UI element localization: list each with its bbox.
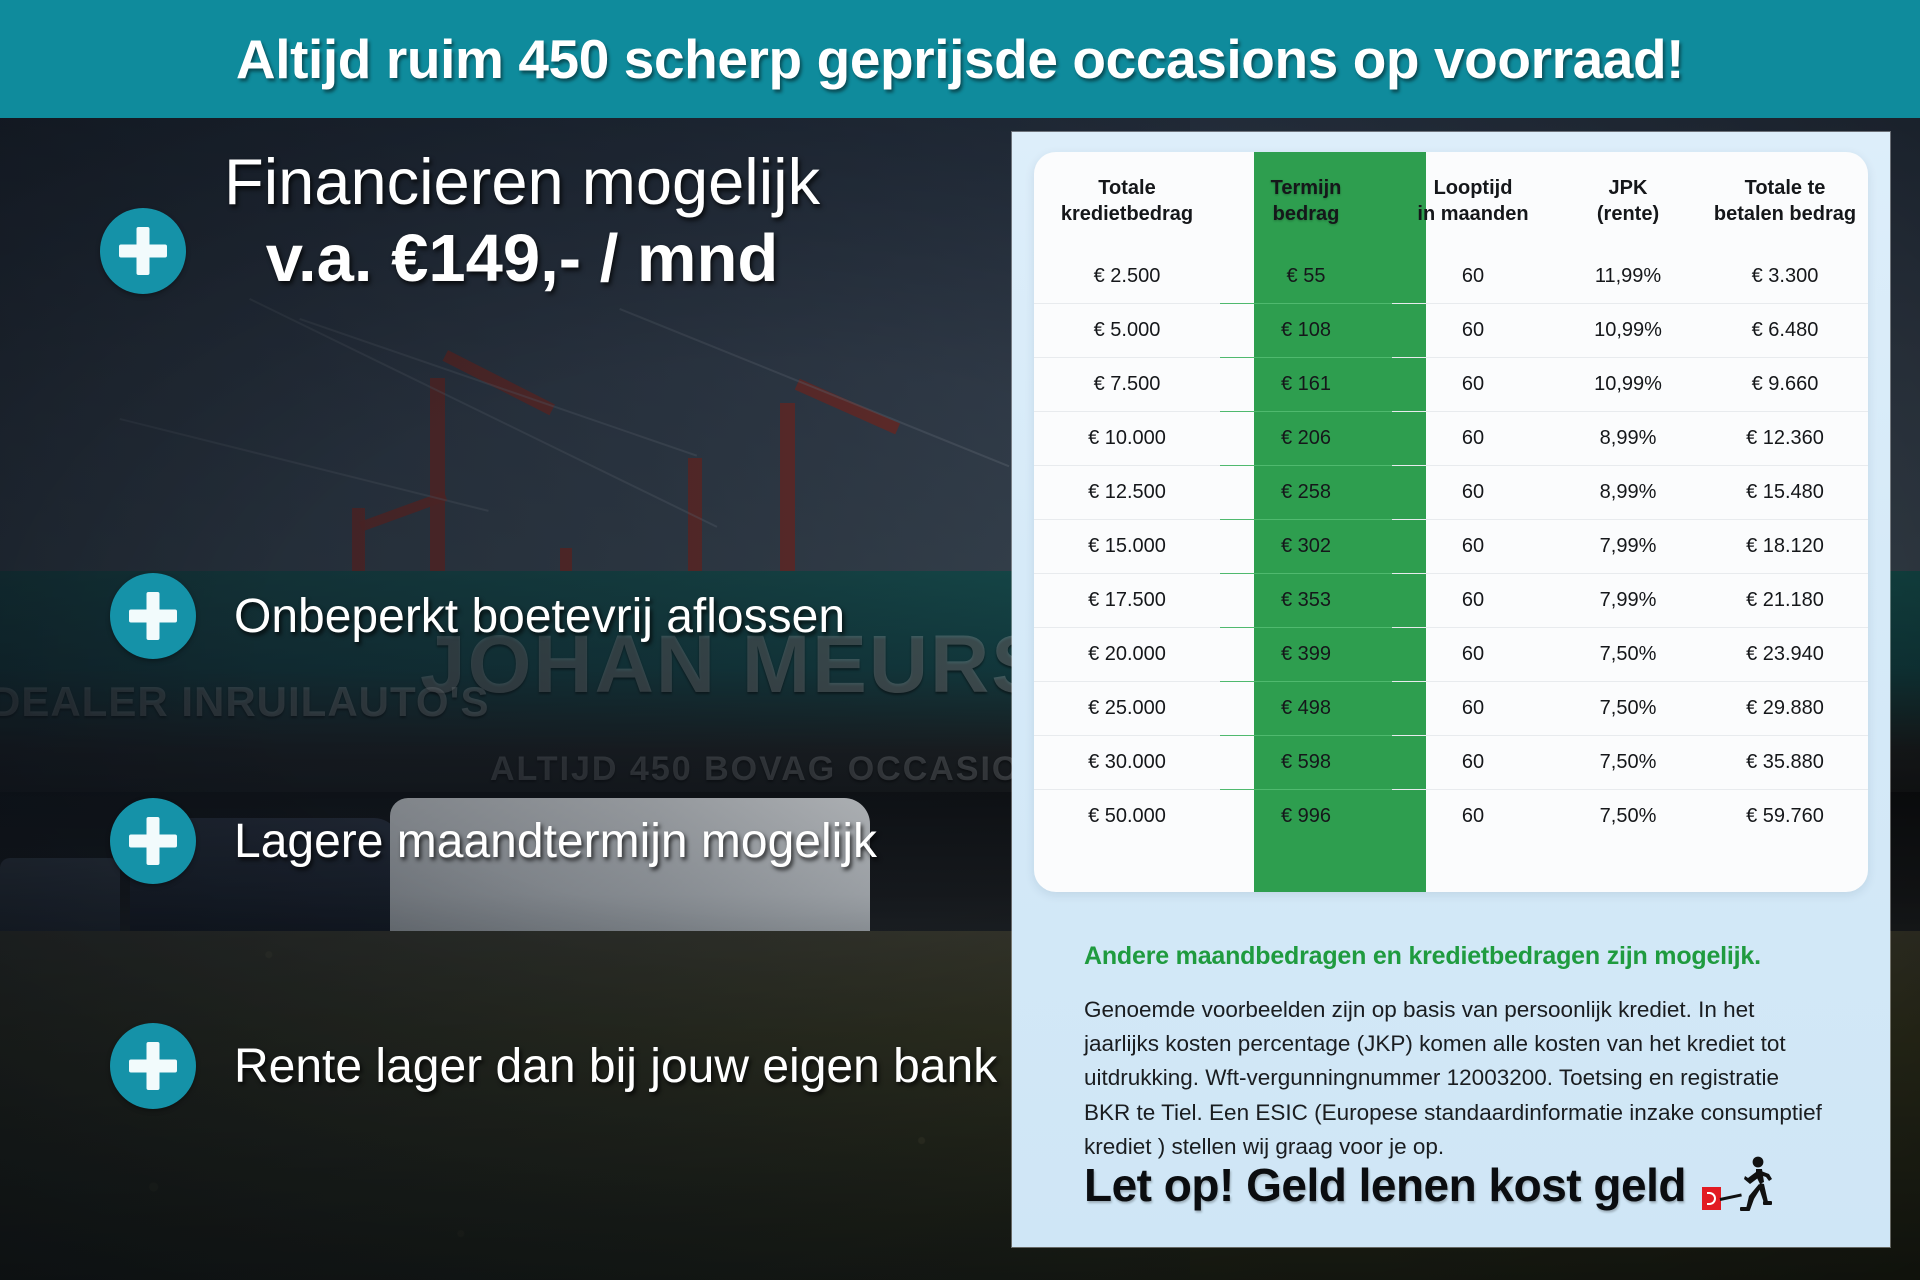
col-header-line1: Looptijd [1392,175,1554,201]
cell-totaal: € 35.880 [1702,736,1868,790]
table-row: € 25.000 € 498 60 7,50% € 29.880 [1034,682,1868,736]
feature-item-2: Lagere maandtermijn mogelijk [110,798,877,884]
cell-termijn: € 598 [1220,736,1392,790]
credit-warning: Let op! Geld lenen kost geld [1084,1154,1774,1216]
table-row: € 50.000 € 996 60 7,50% € 59.760 [1034,790,1868,844]
cell-termijn: € 498 [1220,682,1392,736]
cell-jpk: 10,99% [1554,304,1702,358]
col-header-jpk: JPK (rente) [1554,152,1702,250]
col-header-line2: bedrag [1220,201,1392,227]
promo-banner: Altijd ruim 450 scherp geprijsde occasio… [0,0,1920,1280]
rates-table-body: € 2.500 € 55 60 11,99% € 3.300 € 5.000 €… [1034,250,1868,843]
cell-krediet: € 12.500 [1034,466,1220,520]
finance-panel: Totale kredietbedrag Termijn bedrag Loop… [1012,132,1890,1247]
cell-looptijd: 60 [1392,682,1554,736]
walking-man-icon [1700,1154,1774,1216]
rates-table-card: Totale kredietbedrag Termijn bedrag Loop… [1034,152,1868,892]
col-header-looptijd: Looptijd in maanden [1392,152,1554,250]
cell-totaal: € 3.300 [1702,250,1868,304]
cell-looptijd: 60 [1392,250,1554,304]
table-row: € 7.500 € 161 60 10,99% € 9.660 [1034,358,1868,412]
col-header-line1: JPK [1554,175,1702,201]
cell-krediet: € 10.000 [1034,412,1220,466]
cell-jpk: 7,99% [1554,574,1702,628]
cell-termijn: € 353 [1220,574,1392,628]
wallet-man-icon [1700,1154,1774,1216]
table-row: € 12.500 € 258 60 8,99% € 15.480 [1034,466,1868,520]
table-row: € 5.000 € 108 60 10,99% € 6.480 [1034,304,1868,358]
table-row: € 30.000 € 598 60 7,50% € 35.880 [1034,736,1868,790]
top-banner-headline: Altijd ruim 450 scherp geprijsde occasio… [236,27,1684,91]
cell-jpk: 7,50% [1554,790,1702,844]
cell-totaal: € 9.660 [1702,358,1868,412]
headline-lines: Financieren mogelijk v.a. €149,- / mnd [224,148,820,301]
rates-table-head: Totale kredietbedrag Termijn bedrag Loop… [1034,152,1868,250]
rates-table: Totale kredietbedrag Termijn bedrag Loop… [1034,152,1868,843]
feature-item-label: Onbeperkt boetevrij aflossen [234,589,845,644]
col-header-line2: kredietbedrag [1034,201,1220,227]
cell-termijn: € 206 [1220,412,1392,466]
cell-looptijd: 60 [1392,466,1554,520]
plus-icon [110,798,196,884]
feature-item-label: Rente lager dan bij jouw eigen bank [234,1039,997,1094]
table-row: € 20.000 € 399 60 7,50% € 23.940 [1034,628,1868,682]
feature-list: Financieren mogelijk v.a. €149,- / mnd O… [0,118,1020,1280]
cell-termijn: € 399 [1220,628,1392,682]
table-row: € 2.500 € 55 60 11,99% € 3.300 [1034,250,1868,304]
cell-totaal: € 18.120 [1702,520,1868,574]
credit-warning-text: Let op! Geld lenen kost geld [1084,1158,1686,1212]
plus-icon [110,1023,196,1109]
plus-icon [110,573,196,659]
cell-krediet: € 50.000 [1034,790,1220,844]
cell-looptijd: 60 [1392,520,1554,574]
headline-block: Financieren mogelijk v.a. €149,- / mnd [100,148,820,301]
cell-jpk: 7,50% [1554,682,1702,736]
cell-jpk: 10,99% [1554,358,1702,412]
feature-item-1: Onbeperkt boetevrij aflossen [110,573,845,659]
cell-krediet: € 15.000 [1034,520,1220,574]
cell-totaal: € 6.480 [1702,304,1868,358]
cell-jpk: 7,50% [1554,628,1702,682]
cell-jpk: 8,99% [1554,412,1702,466]
table-row: € 15.000 € 302 60 7,99% € 18.120 [1034,520,1868,574]
cell-termijn: € 996 [1220,790,1392,844]
cell-looptijd: 60 [1392,358,1554,412]
col-header-line1: Termijn [1220,175,1392,201]
headline-line-2: v.a. €149,- / mnd [224,216,820,302]
cell-krediet: € 5.000 [1034,304,1220,358]
disclaimer-heading: Andere maandbedragen en kredietbedragen … [1084,942,1826,971]
cell-looptijd: 60 [1392,304,1554,358]
disclaimer-block: Andere maandbedragen en kredietbedragen … [1084,942,1826,1164]
feature-item-3: Rente lager dan bij jouw eigen bank [110,1023,997,1109]
cell-krediet: € 25.000 [1034,682,1220,736]
cell-jpk: 11,99% [1554,250,1702,304]
cell-krediet: € 20.000 [1034,628,1220,682]
disclaimer-body: Genoemde voorbeelden zijn op basis van p… [1084,993,1826,1164]
cell-termijn: € 161 [1220,358,1392,412]
table-row: € 17.500 € 353 60 7,99% € 21.180 [1034,574,1868,628]
col-header-termijn: Termijn bedrag [1220,152,1392,250]
cell-termijn: € 55 [1220,250,1392,304]
col-header-line1: Totale [1034,175,1220,201]
top-banner-bar: Altijd ruim 450 scherp geprijsde occasio… [0,0,1920,118]
col-header-krediet: Totale kredietbedrag [1034,152,1220,250]
col-header-line2: (rente) [1554,201,1702,227]
cell-totaal: € 15.480 [1702,466,1868,520]
col-header-line2: betalen bedrag [1702,201,1868,227]
table-row: € 10.000 € 206 60 8,99% € 12.360 [1034,412,1868,466]
plus-icon [100,208,186,294]
headline-line-1: Financieren mogelijk [224,148,820,216]
cell-termijn: € 108 [1220,304,1392,358]
cell-looptijd: 60 [1392,736,1554,790]
feature-item-label: Lagere maandtermijn mogelijk [234,814,877,869]
table-header-row: Totale kredietbedrag Termijn bedrag Loop… [1034,152,1868,250]
cell-looptijd: 60 [1392,628,1554,682]
cell-totaal: € 29.880 [1702,682,1868,736]
cell-jpk: 7,50% [1554,736,1702,790]
cell-krediet: € 2.500 [1034,250,1220,304]
cell-krediet: € 30.000 [1034,736,1220,790]
cell-looptijd: 60 [1392,790,1554,844]
cell-totaal: € 21.180 [1702,574,1868,628]
cell-krediet: € 7.500 [1034,358,1220,412]
cell-looptijd: 60 [1392,574,1554,628]
cell-totaal: € 59.760 [1702,790,1868,844]
cell-totaal: € 12.360 [1702,412,1868,466]
cell-termijn: € 258 [1220,466,1392,520]
col-header-line2: in maanden [1392,201,1554,227]
cell-totaal: € 23.940 [1702,628,1868,682]
cell-jpk: 8,99% [1554,466,1702,520]
col-header-totaal: Totale te betalen bedrag [1702,152,1868,250]
cell-looptijd: 60 [1392,412,1554,466]
cell-krediet: € 17.500 [1034,574,1220,628]
cell-jpk: 7,99% [1554,520,1702,574]
col-header-line1: Totale te [1702,175,1868,201]
cell-termijn: € 302 [1220,520,1392,574]
